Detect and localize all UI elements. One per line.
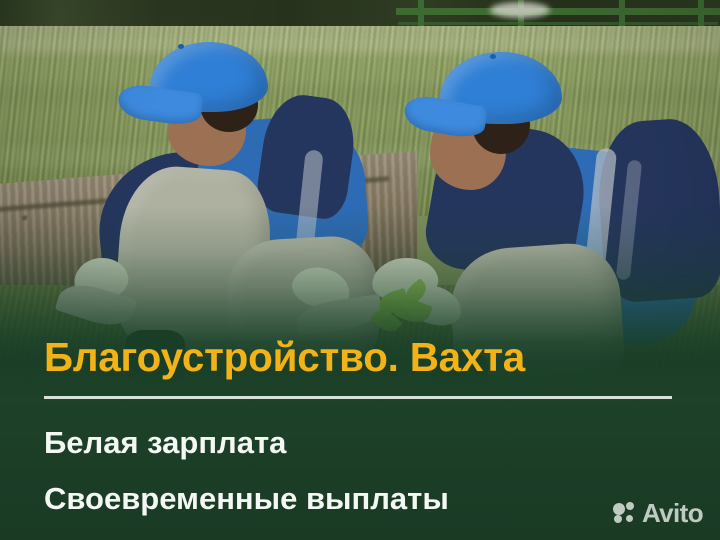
text-block: Благоустройство. Вахта [44,332,690,382]
subtitle-line-2: Своевременные выплаты [44,472,690,526]
avito-watermark: Avito [613,502,703,524]
subtitle-block: Белая зарплата Своевременные выплаты [44,402,690,526]
headline: Благоустройство. Вахта [44,332,680,382]
subtitle-line-1: Белая зарплата [44,416,690,470]
title-divider [44,396,672,399]
avito-dots-icon [613,502,637,524]
avito-wordmark: Avito [642,502,703,524]
avito-job-banner: Благоустройство. Вахта Белая зарплата Св… [0,0,720,540]
